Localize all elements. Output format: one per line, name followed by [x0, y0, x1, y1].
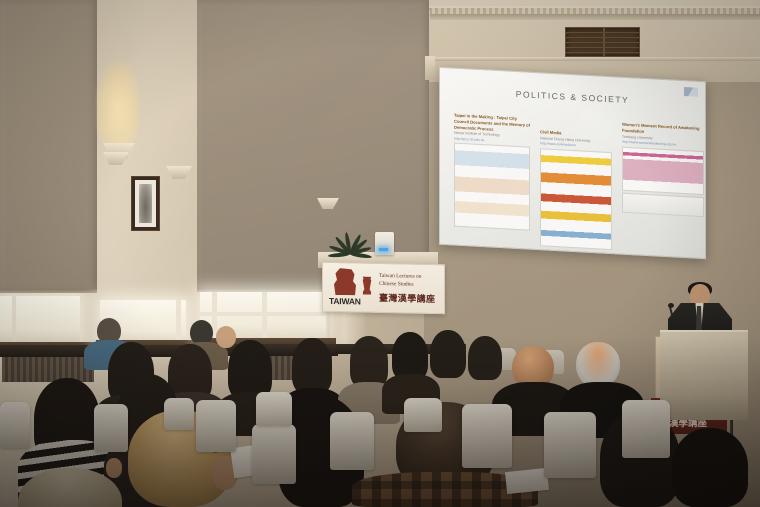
- audience-hand-small: [106, 458, 122, 478]
- taiwan-logo-vessel-icon: [361, 277, 373, 295]
- audience-head-right-1: [468, 336, 502, 380]
- audience-head-backrow-3: [216, 326, 236, 348]
- taiwan-logo: TAIWAN: [329, 268, 375, 309]
- chair-row-9[interactable]: [622, 400, 670, 458]
- window-blind-right[interactable]: [197, 0, 429, 292]
- screen-housing: [425, 56, 435, 80]
- window-mullion-right-b: [262, 292, 267, 340]
- wall-sconce-glow: [96, 38, 140, 150]
- taiwan-logo-figure-icon: [333, 268, 358, 296]
- lecture-hall-photo: POLITICS & SOCIETY Taipei in the Making …: [0, 0, 760, 507]
- taiwan-logo-wordmark: TAIWAN: [329, 296, 377, 307]
- window-mullion-left: [12, 296, 16, 342]
- chair-row-1[interactable]: [0, 402, 30, 448]
- slide-column-1: Taipei in the Making : Taipei City Counc…: [454, 113, 532, 232]
- chair-row-6[interactable]: [256, 392, 292, 426]
- slide-column-2: Civil Media National Chung Hsing Univers…: [540, 129, 614, 250]
- window-transom-right: [200, 312, 326, 316]
- chair-row-10[interactable]: [404, 398, 442, 432]
- chair-row-11[interactable]: [164, 398, 194, 430]
- framed-artwork: [131, 176, 160, 231]
- lectern: [660, 330, 748, 420]
- potted-plant: [328, 222, 380, 256]
- website-screenshot-civilmedia: [540, 148, 612, 250]
- taiwan-lectures-banner: TAIWAN Taiwan Lectures on Chinese Studie…: [322, 262, 445, 315]
- audience-head-mid-4: [292, 338, 332, 394]
- audience-head-mid-7: [430, 330, 466, 378]
- device-led-indicator: [379, 248, 388, 251]
- chair-row-4[interactable]: [252, 424, 296, 484]
- window-blind-left[interactable]: [0, 0, 97, 293]
- window-mullion-mid: [176, 300, 181, 344]
- handout-paper-2[interactable]: [505, 468, 549, 494]
- website-screenshot-awakening: [622, 146, 704, 194]
- audience-head-mid-3: [228, 340, 272, 400]
- chair-row-2[interactable]: [94, 404, 128, 452]
- slide-column-3: Women's Moment Record of Awakening Found…: [622, 122, 704, 217]
- website-screenshot-taipei: [454, 143, 530, 231]
- chair-row-5[interactable]: [330, 412, 374, 470]
- banner-chinese: 臺灣漢學講座: [379, 291, 443, 305]
- presentation-logo: [684, 87, 698, 97]
- projector-device[interactable]: [375, 232, 394, 255]
- audience-head-front-5: [672, 428, 748, 507]
- slide-title: POLITICS & SOCIETY: [440, 85, 705, 109]
- banner-english-line2: Chinese Studies: [379, 281, 443, 290]
- chair-row-8[interactable]: [544, 412, 596, 478]
- projection-screen: POLITICS & SOCIETY Taipei in the Making …: [439, 67, 706, 259]
- audience-head-mid-5: [350, 336, 388, 388]
- chair-row-3[interactable]: [196, 400, 236, 452]
- speaker-tie: [696, 306, 702, 330]
- ventilation-grille-icon: [565, 27, 640, 57]
- website-screenshot-awakening-lower: [622, 192, 704, 216]
- microphone-icon: [668, 303, 674, 308]
- audience-head-mid-6: [392, 332, 428, 380]
- chair-row-7[interactable]: [462, 404, 512, 468]
